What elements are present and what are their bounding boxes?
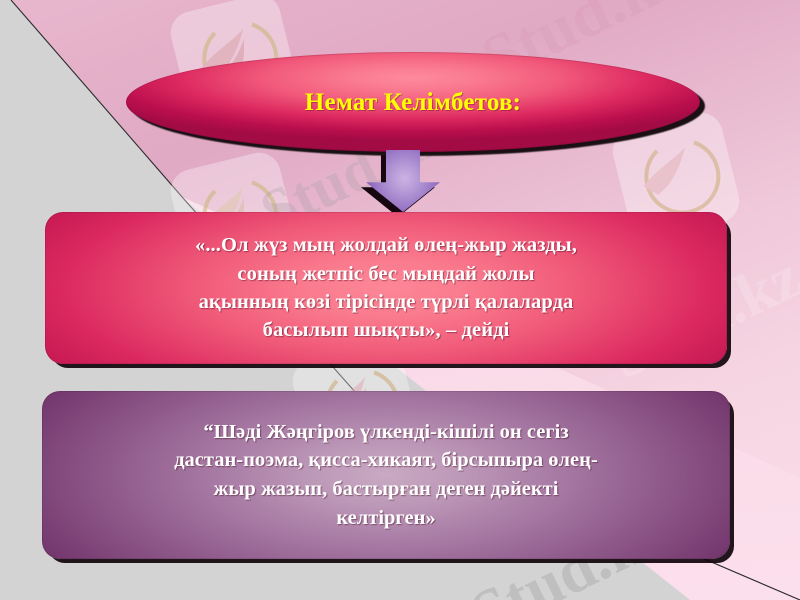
quote-box-secondary-lines: “Шәді Жәңгіров үлкенді-кішілі он сегіз д… — [58, 418, 714, 533]
down-arrow — [366, 150, 440, 212]
quote-line: дастан-поэма, қисса-хикаят, бірсыпыра өл… — [58, 446, 714, 475]
quote-box-primary-lines: «...Ол жүз мың жолдай өлең-жыр жазды, со… — [63, 231, 709, 344]
title-ellipse: Немат Келімбетов: — [126, 52, 700, 152]
quote-line: соның жетпіс бес мыңдай жолы — [63, 260, 709, 288]
down-arrow-icon — [366, 150, 440, 212]
quote-line: «...Ол жүз мың жолдай өлең-жыр жазды, — [63, 231, 709, 259]
page-title: Немат Келімбетов: — [305, 89, 521, 117]
quote-line: ақынның көзі тірісінде түрлі қалаларда — [63, 288, 709, 316]
quote-line: жыр жазып, бастырған деген дәйекті — [58, 475, 714, 504]
quote-box-secondary: “Шәді Жәңгіров үлкенді-кішілі он сегіз д… — [42, 391, 730, 559]
quote-line: “Шәді Жәңгіров үлкенді-кішілі он сегіз — [58, 418, 714, 447]
quote-line: басылып шықты», – дейді — [63, 316, 709, 344]
presentation-slide: Stud.kz Stud.kz Stud.kz Stud.kz Stud.kz … — [0, 0, 800, 600]
quote-line: келтірген» — [58, 504, 714, 533]
quote-box-primary: «...Ол жүз мың жолдай өлең-жыр жазды, со… — [45, 212, 727, 364]
